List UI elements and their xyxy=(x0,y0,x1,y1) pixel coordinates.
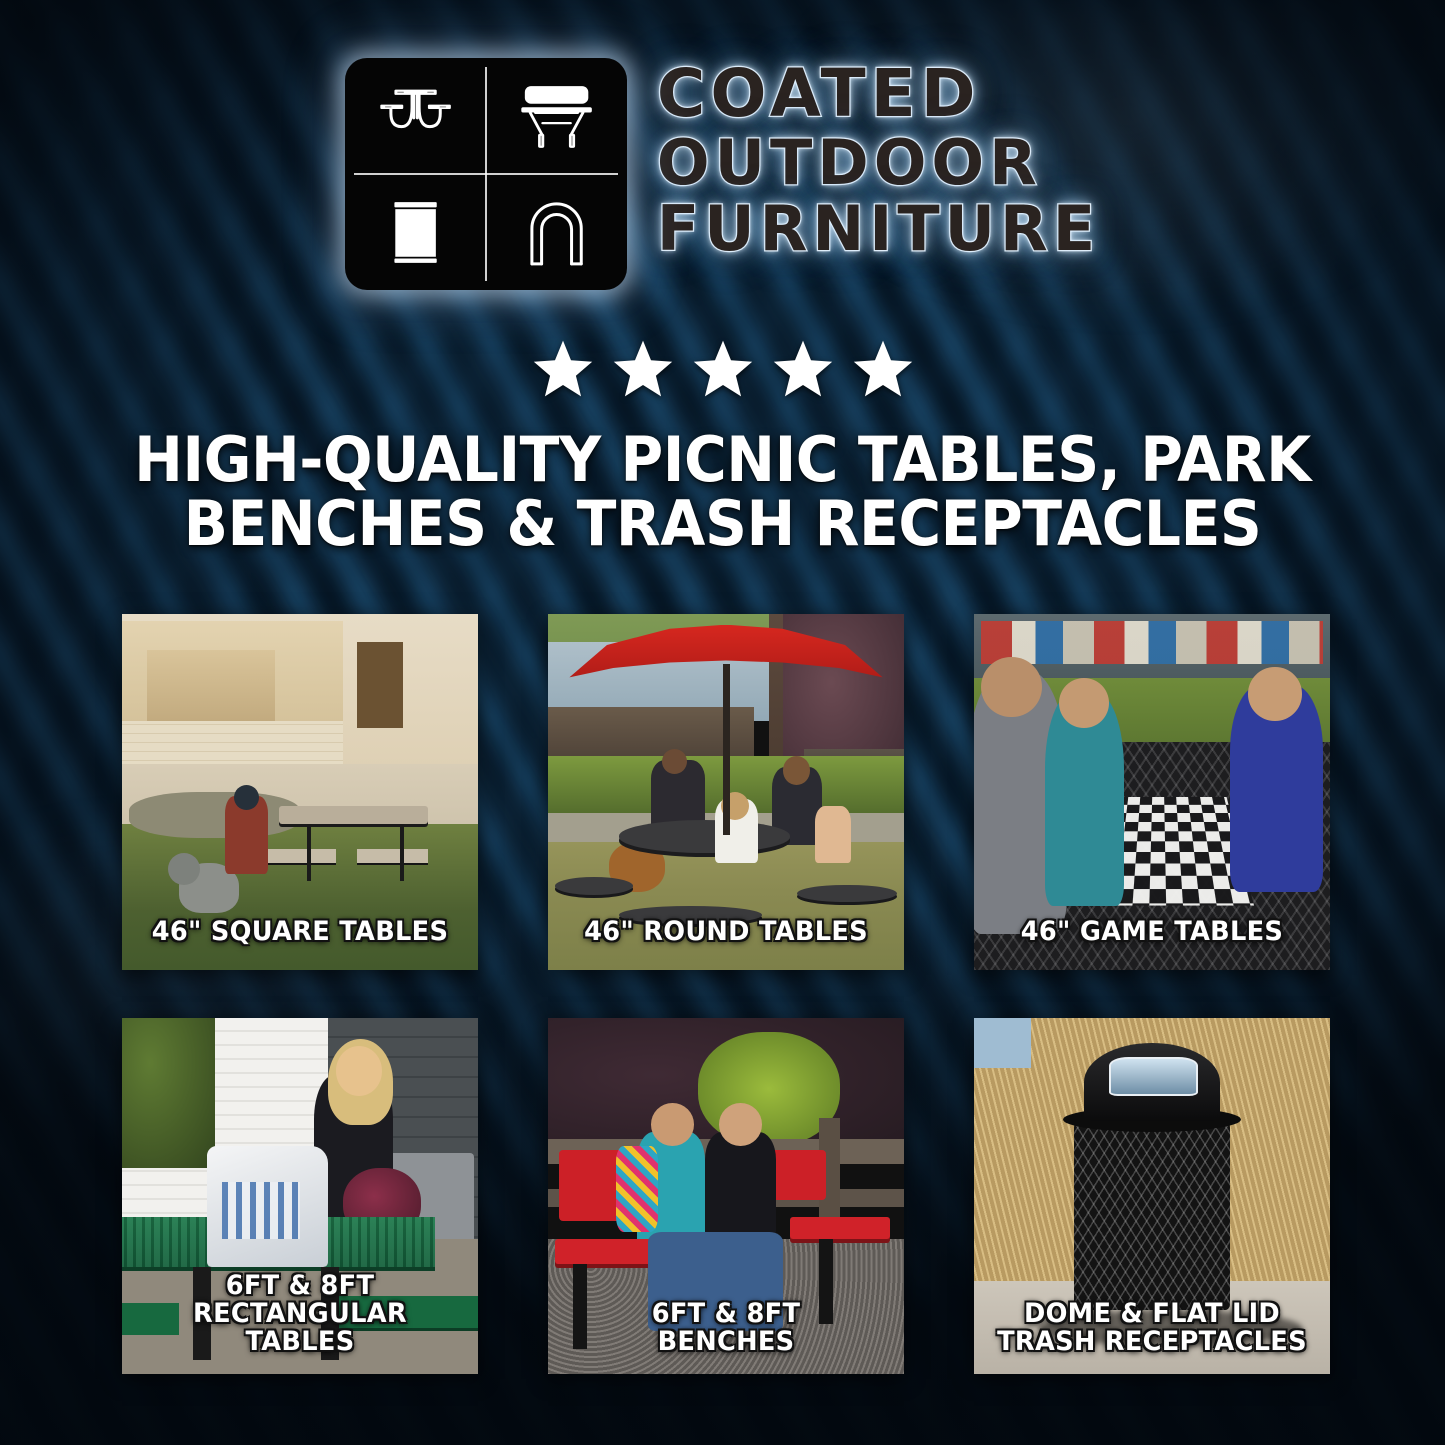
product-card-trash-receptacles[interactable]: DOME & FLAT LID TRASH RECEPTACLES xyxy=(974,1018,1330,1374)
product-caption-round-tables: 46" ROUND TABLES xyxy=(557,918,895,946)
caption-line-1: 46" GAME TABLES xyxy=(991,918,1314,946)
product-grid: 46" SQUARE TABLES xyxy=(122,614,1322,1374)
product-card-square-tables[interactable]: 46" SQUARE TABLES xyxy=(122,614,478,970)
star-rating xyxy=(0,338,1445,400)
product-caption-benches: 6FT & 8FT BENCHES xyxy=(557,1300,895,1356)
caption-line-2: BENCHES xyxy=(565,1328,888,1356)
caption-line-1: 46" ROUND TABLES xyxy=(565,918,888,946)
caption-line-2: RECTANGULAR TABLES xyxy=(139,1300,462,1356)
headline-line-2: BENCHES & TRASH RECEPTACLES xyxy=(100,492,1346,556)
picnic-table-side-icon xyxy=(486,58,627,174)
caption-line-1: 46" SQUARE TABLES xyxy=(139,918,462,946)
brand-name-line-1: COATED xyxy=(657,62,1100,127)
product-card-benches[interactable]: 6FT & 8FT BENCHES xyxy=(548,1018,904,1374)
star-icon xyxy=(692,338,754,400)
caption-line-1: DOME & FLAT LID xyxy=(991,1300,1314,1328)
product-card-game-tables[interactable]: 46" GAME TABLES xyxy=(974,614,1330,970)
picnic-table-front-icon xyxy=(345,58,486,174)
product-card-round-tables[interactable]: 46" ROUND TABLES xyxy=(548,614,904,970)
page-headline: HIGH-QUALITY PICNIC TABLES, PARK BENCHES… xyxy=(43,428,1401,557)
caption-line-2: TRASH RECEPTACLES xyxy=(991,1328,1314,1356)
bike-rack-arch-icon xyxy=(486,174,627,290)
headline-line-1: HIGH-QUALITY PICNIC TABLES, PARK xyxy=(100,428,1346,492)
star-icon xyxy=(772,338,834,400)
brand-header: COATED OUTDOOR FURNITURE xyxy=(0,58,1445,290)
star-icon xyxy=(612,338,674,400)
product-caption-rectangular-tables: 6FT & 8FT RECTANGULAR TABLES xyxy=(131,1272,469,1356)
caption-line-1: 6FT & 8FT xyxy=(565,1300,888,1328)
promo-poster: COATED OUTDOOR FURNITURE HIGH-QUALITY PI… xyxy=(0,0,1445,1445)
product-caption-trash-receptacles: DOME & FLAT LID TRASH RECEPTACLES xyxy=(983,1300,1321,1356)
star-icon xyxy=(852,338,914,400)
product-caption-game-tables: 46" GAME TABLES xyxy=(983,918,1321,946)
trash-receptacle-icon xyxy=(345,174,486,290)
product-caption-square-tables: 46" SQUARE TABLES xyxy=(131,918,469,946)
product-card-rectangular-tables[interactable]: 6FT & 8FT RECTANGULAR TABLES xyxy=(122,1018,478,1374)
brand-logo-mark xyxy=(345,58,627,290)
caption-line-1: 6FT & 8FT xyxy=(139,1272,462,1300)
star-icon xyxy=(532,338,594,400)
brand-name-line-2: OUTDOOR xyxy=(657,133,1100,194)
brand-wordmark: COATED OUTDOOR FURNITURE xyxy=(657,58,1100,260)
brand-name-line-3: FURNITURE xyxy=(657,199,1100,260)
